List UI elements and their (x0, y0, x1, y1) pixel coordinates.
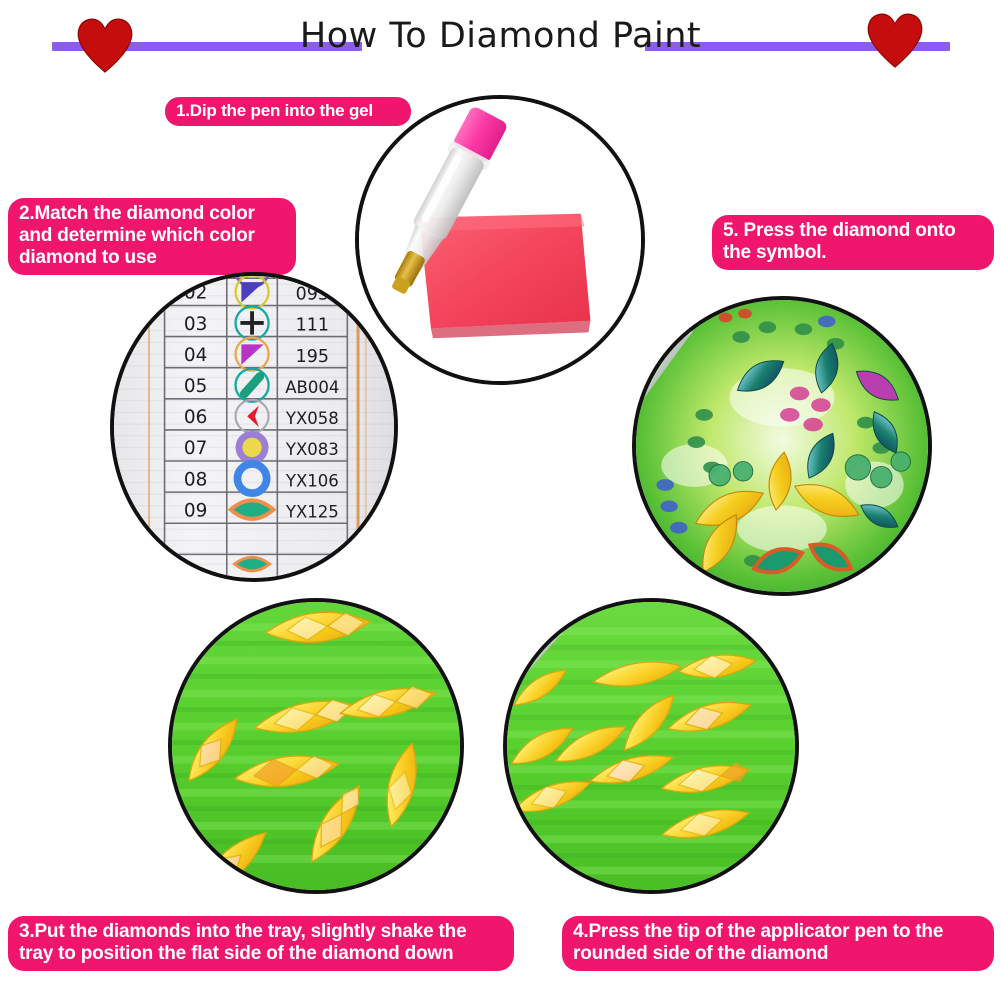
diamonds-in-tray-illustration (172, 602, 460, 890)
pen-into-gel-illustration (359, 99, 641, 381)
step-4-label: 4.Press the tip of the applicator pen to… (562, 916, 994, 971)
photo-diamonds-in-tray (168, 598, 464, 894)
svg-text:09: 09 (184, 500, 208, 521)
step-5-label: 5. Press the diamond onto the symbol. (712, 215, 994, 270)
step-3-label: 3.Put the diamonds into the tray, slight… (8, 916, 514, 971)
step-2-label: 2.Match the diamond color and determine … (8, 198, 296, 275)
svg-text:05: 05 (184, 376, 208, 397)
svg-text:020: 020 (275, 276, 310, 284)
infographic-canvas: How To Diamond Paint 1.Dip the pen into … (0, 0, 1001, 1001)
svg-text:07: 07 (184, 438, 208, 459)
page-title: How To Diamond Paint (0, 16, 1001, 56)
svg-text:03: 03 (184, 314, 208, 335)
svg-text:YX106: YX106 (285, 471, 339, 490)
svg-text:08: 08 (184, 469, 208, 490)
press-onto-symbol-illustration (636, 300, 928, 592)
pen-picks-diamond-illustration (507, 602, 795, 890)
photo-color-chart: 020 02 093 03 111 04 195 05 (110, 272, 398, 582)
svg-text:YX083: YX083 (285, 440, 339, 459)
photo-press-onto-symbol (632, 296, 932, 596)
svg-text:YX058: YX058 (285, 409, 339, 428)
photo-pen-into-gel (355, 95, 645, 385)
svg-text:111: 111 (296, 316, 329, 336)
svg-text:06: 06 (184, 407, 208, 428)
color-chart-illustration: 020 02 093 03 111 04 195 05 (114, 276, 394, 578)
svg-text:AB004: AB004 (285, 378, 339, 397)
svg-text:04: 04 (184, 345, 208, 366)
svg-text:YX125: YX125 (285, 502, 339, 521)
header: How To Diamond Paint (0, 0, 1001, 90)
photo-pen-picks-diamond (503, 598, 799, 894)
svg-text:02: 02 (184, 283, 208, 304)
svg-text:195: 195 (296, 347, 329, 367)
svg-text:093: 093 (296, 285, 329, 305)
